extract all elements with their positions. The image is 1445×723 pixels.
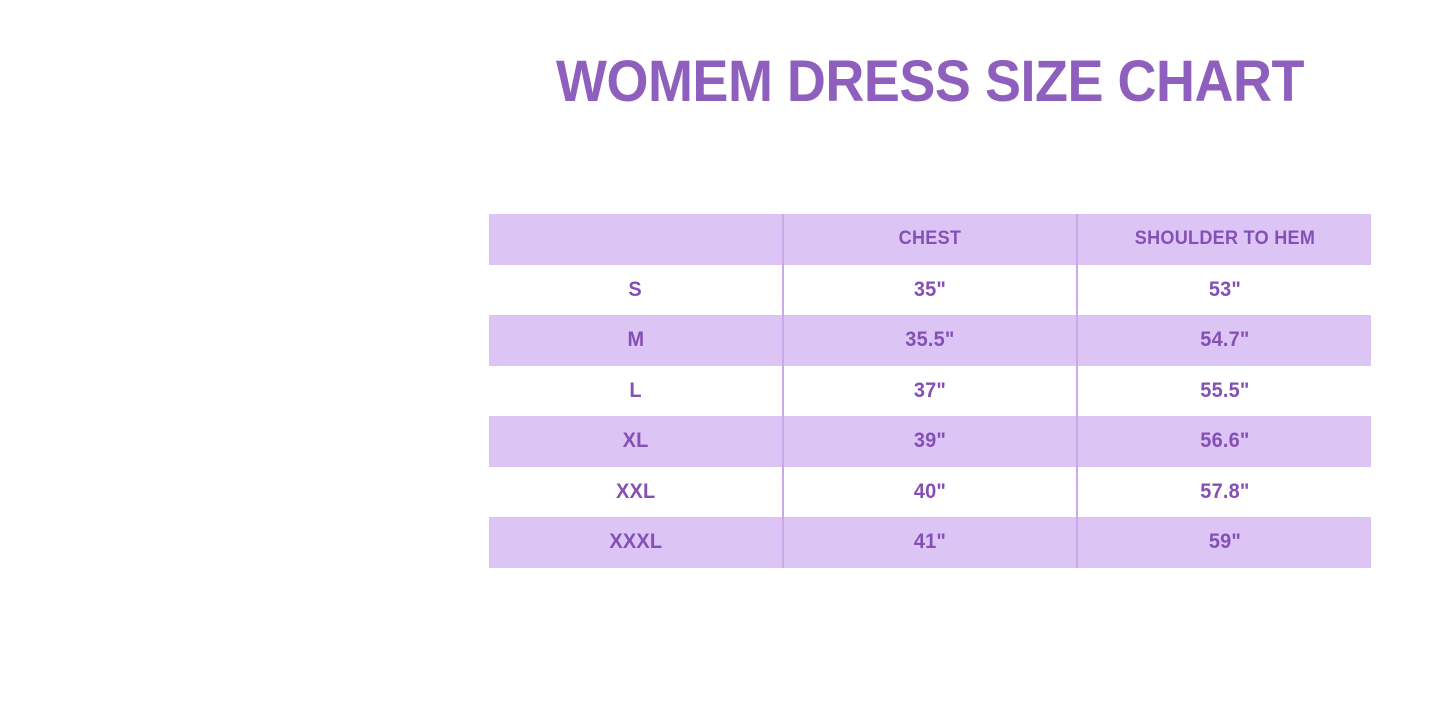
cell-chest-text: 35" (914, 278, 946, 302)
cell-chest-text: 40" (914, 480, 946, 504)
cell-chest-text: 37" (914, 379, 946, 403)
table-row: S 35" 53" (489, 265, 1371, 316)
cell-shoulder-to-hem: 56.6" (1077, 416, 1371, 467)
cell-shoulder-to-hem-text: 57.8" (1200, 480, 1249, 504)
cell-shoulder-to-hem: 53" (1077, 265, 1371, 316)
cell-shoulder-to-hem-text: 56.6" (1200, 429, 1249, 453)
cell-chest-text: 35.5" (905, 328, 954, 352)
cell-chest: 41" (783, 517, 1077, 568)
cell-shoulder-to-hem-text: 59" (1208, 530, 1240, 554)
cell-shoulder-to-hem: 54.7" (1077, 315, 1371, 366)
table-header: CHEST SHOULDER TO HEM (489, 214, 1371, 265)
cell-shoulder-to-hem: 57.8" (1077, 467, 1371, 518)
cell-chest: 39" (783, 416, 1077, 467)
table-body: S 35" 53" M 35.5" 54.7" (489, 265, 1371, 568)
column-header-size (489, 214, 783, 265)
cell-size: XL (489, 416, 783, 467)
cell-shoulder-to-hem-text: 53" (1208, 278, 1240, 302)
cell-size-text: XXL (616, 480, 655, 504)
cell-chest: 35.5" (783, 315, 1077, 366)
page-canvas: WOMEM DRESS SIZE CHART CHEST SHOULDER TO… (0, 0, 1445, 723)
cell-chest: 37" (783, 366, 1077, 417)
cell-size-text: S (629, 278, 643, 302)
cell-chest: 35" (783, 265, 1077, 316)
cell-shoulder-to-hem: 55.5" (1077, 366, 1371, 417)
cell-size-text: L (629, 379, 641, 403)
table-row: XXL 40" 57.8" (489, 467, 1371, 518)
cell-size: XXL (489, 467, 783, 518)
column-header-shoulder-to-hem-label: SHOULDER TO HEM (1134, 228, 1314, 250)
cell-size-text: XXXL (609, 530, 662, 554)
table-header-row: CHEST SHOULDER TO HEM (489, 214, 1371, 265)
cell-size-text: M (627, 328, 644, 352)
cell-shoulder-to-hem-text: 54.7" (1200, 328, 1249, 352)
cell-size: XXXL (489, 517, 783, 568)
cell-shoulder-to-hem-text: 55.5" (1200, 379, 1249, 403)
column-header-chest: CHEST (783, 214, 1077, 265)
cell-size-text: XL (623, 429, 649, 453)
cell-chest-text: 39" (914, 429, 946, 453)
table-row: XL 39" 56.6" (489, 416, 1371, 467)
table-row: XXXL 41" 59" (489, 517, 1371, 568)
cell-size: S (489, 265, 783, 316)
cell-size: L (489, 366, 783, 417)
size-chart-table: CHEST SHOULDER TO HEM S 35" 53" (489, 214, 1371, 568)
cell-chest: 40" (783, 467, 1077, 518)
page-title: WOMEM DRESS SIZE CHART (520, 52, 1340, 113)
table-row: L 37" 55.5" (489, 366, 1371, 417)
table-row: M 35.5" 54.7" (489, 315, 1371, 366)
column-header-chest-label: CHEST (899, 228, 962, 250)
cell-shoulder-to-hem: 59" (1077, 517, 1371, 568)
cell-chest-text: 41" (914, 530, 946, 554)
cell-size: M (489, 315, 783, 366)
column-header-shoulder-to-hem: SHOULDER TO HEM (1077, 214, 1371, 265)
